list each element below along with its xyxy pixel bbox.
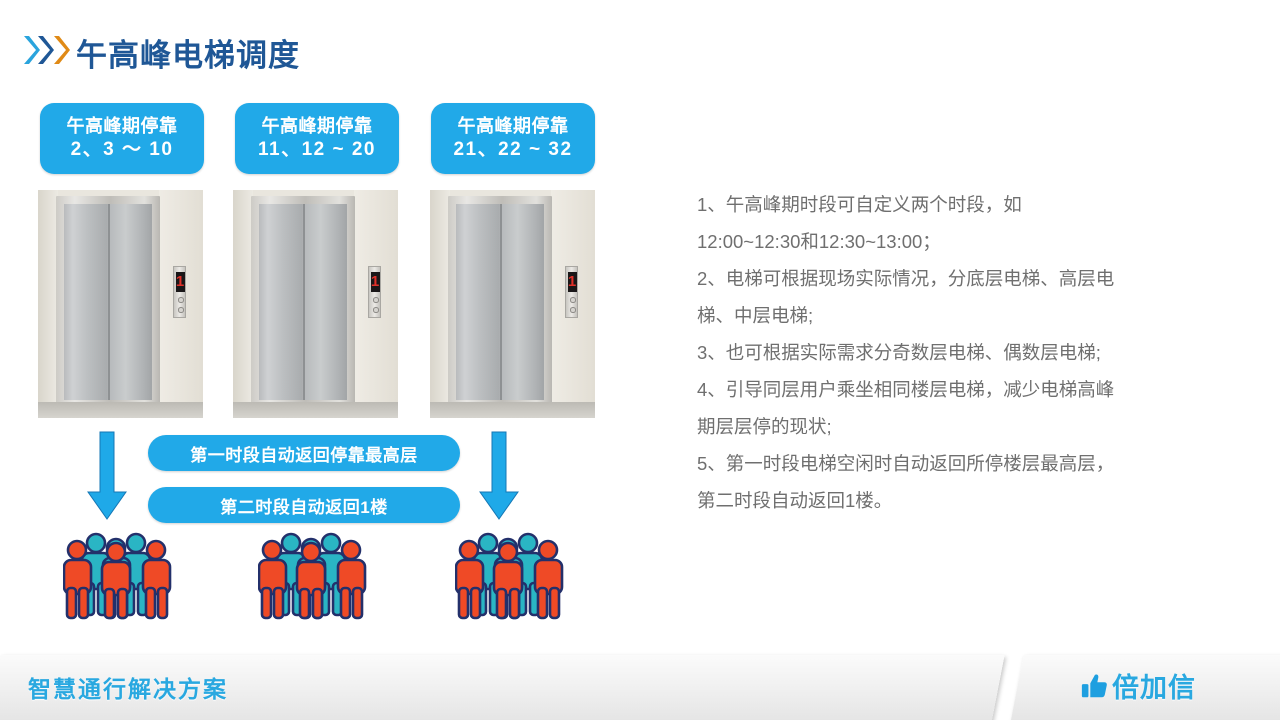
elevator-doors xyxy=(259,204,347,400)
floor-strip xyxy=(430,402,595,418)
call-button-down xyxy=(570,307,576,313)
badge-line1: 午高峰期停靠 xyxy=(262,116,373,138)
notes-list: 1、午高峰期时段可自定义两个时段，如 12:00~12:30和12:30~13:… xyxy=(697,186,1197,519)
note-line: 梯、中层电梯; xyxy=(697,297,1197,334)
badge-line2: 11、12 ~ 20 xyxy=(258,138,376,161)
floor-strip xyxy=(233,402,398,418)
call-panel: 1 xyxy=(173,266,186,318)
note-line: 12:00~12:30和12:30~13:00； xyxy=(697,223,1197,260)
footer-left-text: 智慧通行解决方案 xyxy=(28,670,228,704)
wall-left xyxy=(38,190,58,418)
badge-line1: 午高峰期停靠 xyxy=(67,116,178,138)
note-line: 第二时段自动返回1楼。 xyxy=(697,482,1197,519)
slide-canvas: 午高峰电梯调度 午高峰期停靠 2、3 ～ 10 午高峰期停靠 11、12 ~ 2… xyxy=(0,0,1280,720)
brand-logo: 倍加信 xyxy=(1080,666,1196,705)
people-group-1-icon xyxy=(63,528,175,620)
thumbs-up-icon xyxy=(1080,671,1110,701)
note-line: 4、引导同层用户乘坐相同楼层电梯，减少电梯高峰 xyxy=(697,371,1197,408)
brand-text: 倍加信 xyxy=(1112,666,1196,705)
down-arrow-left-icon xyxy=(86,430,128,522)
call-button-up xyxy=(570,297,576,303)
badge-line2: 21、22 ~ 32 xyxy=(453,138,572,161)
down-arrow-right-icon xyxy=(478,430,520,522)
call-panel: 1 xyxy=(565,266,578,318)
badge-stop-range-3[interactable]: 午高峰期停靠 21、22 ~ 32 xyxy=(431,103,595,174)
badge-line2: 2、3 ～ 10 xyxy=(71,138,174,161)
call-button-up xyxy=(373,297,379,303)
chevron-group xyxy=(22,34,76,66)
call-button-up xyxy=(178,297,184,303)
badge-stop-range-1[interactable]: 午高峰期停靠 2、3 ～ 10 xyxy=(40,103,204,174)
floor-strip xyxy=(38,402,203,418)
elevator-image-2: 1 xyxy=(233,190,398,418)
people-group-2-icon xyxy=(258,528,370,620)
badge-stop-range-2[interactable]: 午高峰期停靠 11、12 ~ 20 xyxy=(235,103,399,174)
elevator-image-1: 1 xyxy=(38,190,203,418)
note-line: 期层层停的现状; xyxy=(697,408,1197,445)
people-group-3-icon xyxy=(455,528,567,620)
wall-left xyxy=(233,190,253,418)
elevator-image-3: 1 xyxy=(430,190,595,418)
call-button-down xyxy=(178,307,184,313)
floor-display: 1 xyxy=(176,272,185,292)
elevator-doors xyxy=(456,204,544,400)
elevator-doors xyxy=(64,204,152,400)
note-line: 3、也可根据实际需求分奇数层电梯、偶数层电梯; xyxy=(697,334,1197,371)
floor-display: 1 xyxy=(371,272,380,292)
call-button-down xyxy=(373,307,379,313)
call-panel: 1 xyxy=(368,266,381,318)
note-line: 1、午高峰期时段可自定义两个时段，如 xyxy=(697,186,1197,223)
page-title: 午高峰电梯调度 xyxy=(76,30,300,75)
chevron-right-icon-3 xyxy=(52,34,70,66)
pill-label-period-1[interactable]: 第一时段自动返回停靠最高层 xyxy=(148,435,460,471)
floor-display: 1 xyxy=(568,272,577,292)
note-line: 5、第一时段电梯空闲时自动返回所停楼层最高层， xyxy=(697,445,1197,482)
wall-left xyxy=(430,190,450,418)
badge-line1: 午高峰期停靠 xyxy=(458,116,569,138)
pill-label-period-2[interactable]: 第二时段自动返回1楼 xyxy=(148,487,460,523)
note-line: 2、电梯可根据现场实际情况，分底层电梯、高层电 xyxy=(697,260,1197,297)
